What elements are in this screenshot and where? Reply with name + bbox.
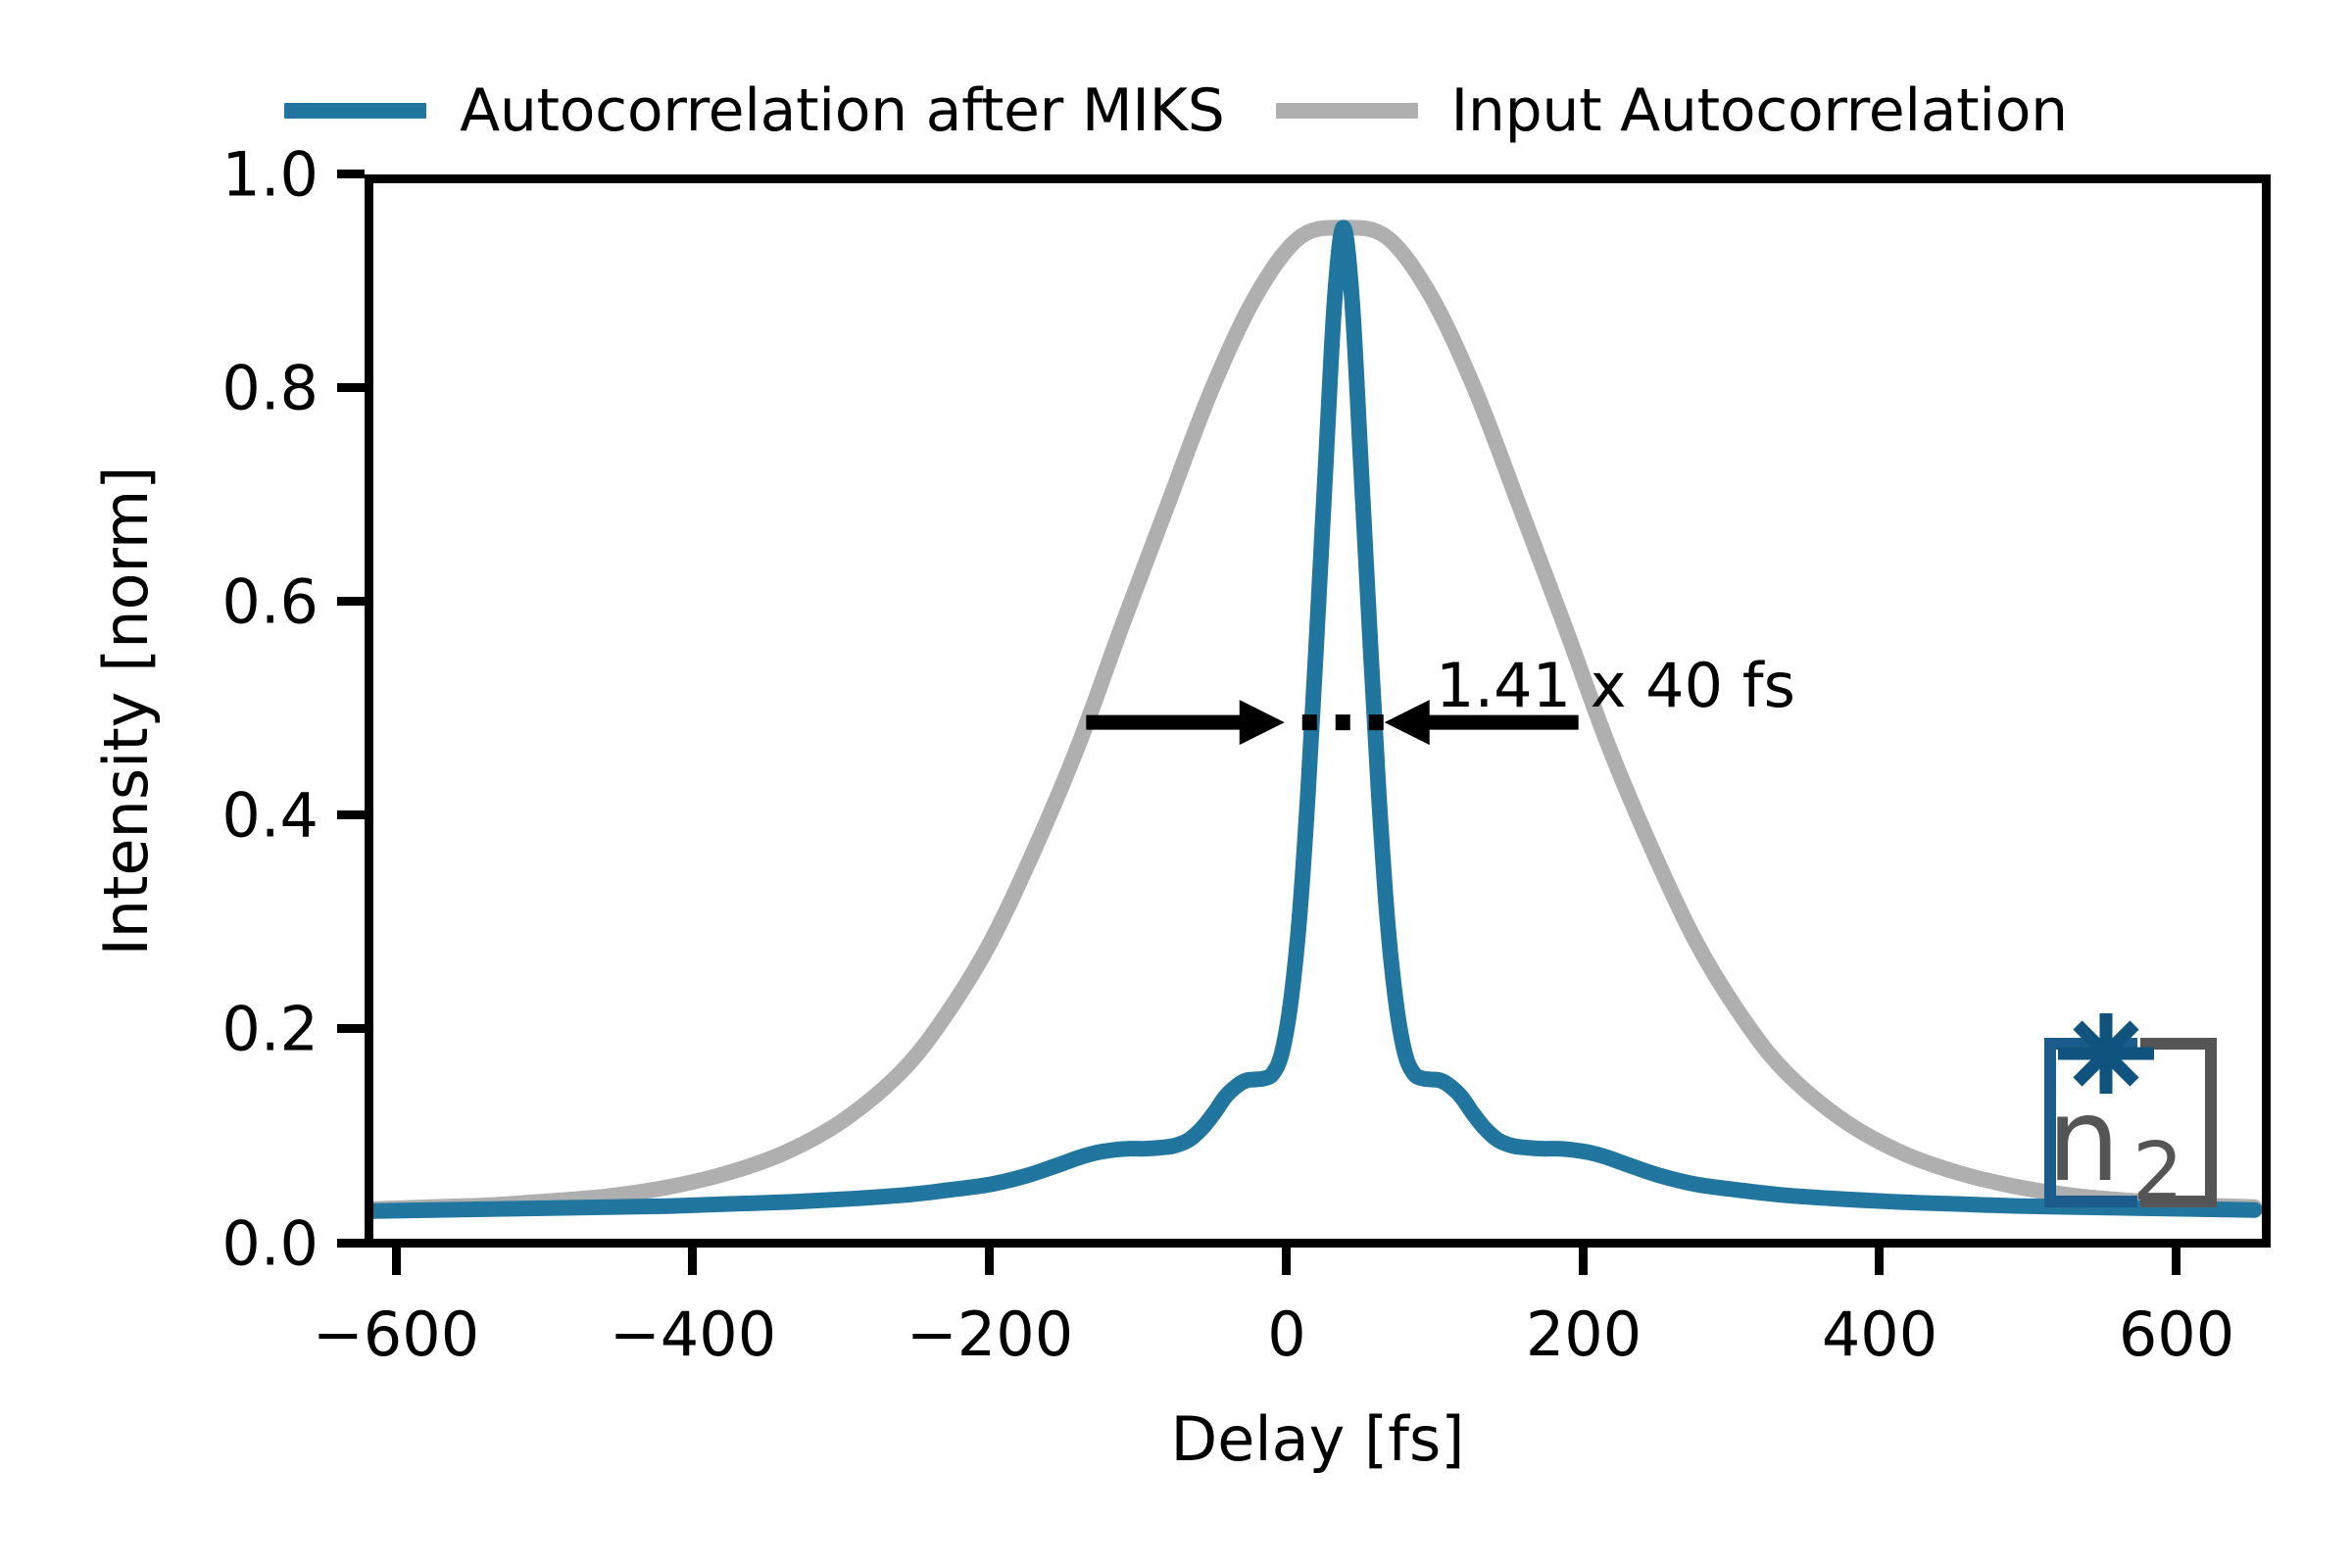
y-tick-mark <box>337 810 365 819</box>
legend-label-miks: Autocorrelation after MIKS <box>460 81 1224 140</box>
x-tick-label: −200 <box>906 1298 1073 1370</box>
x-tick-label: −400 <box>610 1298 776 1370</box>
y-tick-mark <box>337 170 365 178</box>
plot-area <box>365 174 2271 1248</box>
x-tick-mark <box>1579 1248 1588 1275</box>
legend-entry-miks: Autocorrelation after MIKS <box>284 81 1224 140</box>
x-axis-label: Delay [fs] <box>365 1403 2271 1475</box>
x-tick-label: 400 <box>1822 1298 1937 1370</box>
logo-letter-n: n <box>2047 1072 2121 1207</box>
fwhm-annotation-text: 1.41 x 40 fs <box>1436 650 1795 721</box>
legend: Autocorrelation after MIKS Input Autocor… <box>0 76 2352 145</box>
y-axis-label: Intensity [norm] <box>90 174 169 1248</box>
x-tick-mark <box>688 1248 697 1275</box>
n2-logo-svg: n 2 <box>2036 1011 2237 1235</box>
y-tick-mark <box>337 597 365 606</box>
figure-canvas: Autocorrelation after MIKS Input Autocor… <box>0 0 2352 1568</box>
x-tick-mark <box>1282 1248 1291 1275</box>
legend-label-input: Input Autocorrelation <box>1451 81 2068 140</box>
x-tick-label: 600 <box>2119 1298 2234 1370</box>
x-tick-mark <box>1875 1248 1884 1275</box>
logo-subscript-2: 2 <box>2132 1126 2183 1219</box>
y-tick-mark <box>337 1024 365 1033</box>
x-tick-mark <box>392 1248 401 1275</box>
legend-swatch-input <box>1276 103 1418 119</box>
x-tick-label: 0 <box>1267 1298 1305 1370</box>
x-tick-label: 200 <box>1526 1298 1641 1370</box>
fwhm-arrow-left-head <box>1240 700 1285 745</box>
y-tick-mark <box>337 383 365 392</box>
legend-swatch-miks <box>284 103 426 119</box>
chart-svg <box>373 183 2262 1239</box>
n2-logo: n 2 <box>2036 1011 2237 1235</box>
x-tick-mark <box>985 1248 994 1275</box>
x-tick-mark <box>2172 1248 2180 1275</box>
fwhm-arrow-right-head <box>1385 700 1430 745</box>
legend-entry-input: Input Autocorrelation <box>1276 81 2068 140</box>
y-tick-mark <box>337 1239 365 1248</box>
x-tick-label: −600 <box>313 1298 479 1370</box>
